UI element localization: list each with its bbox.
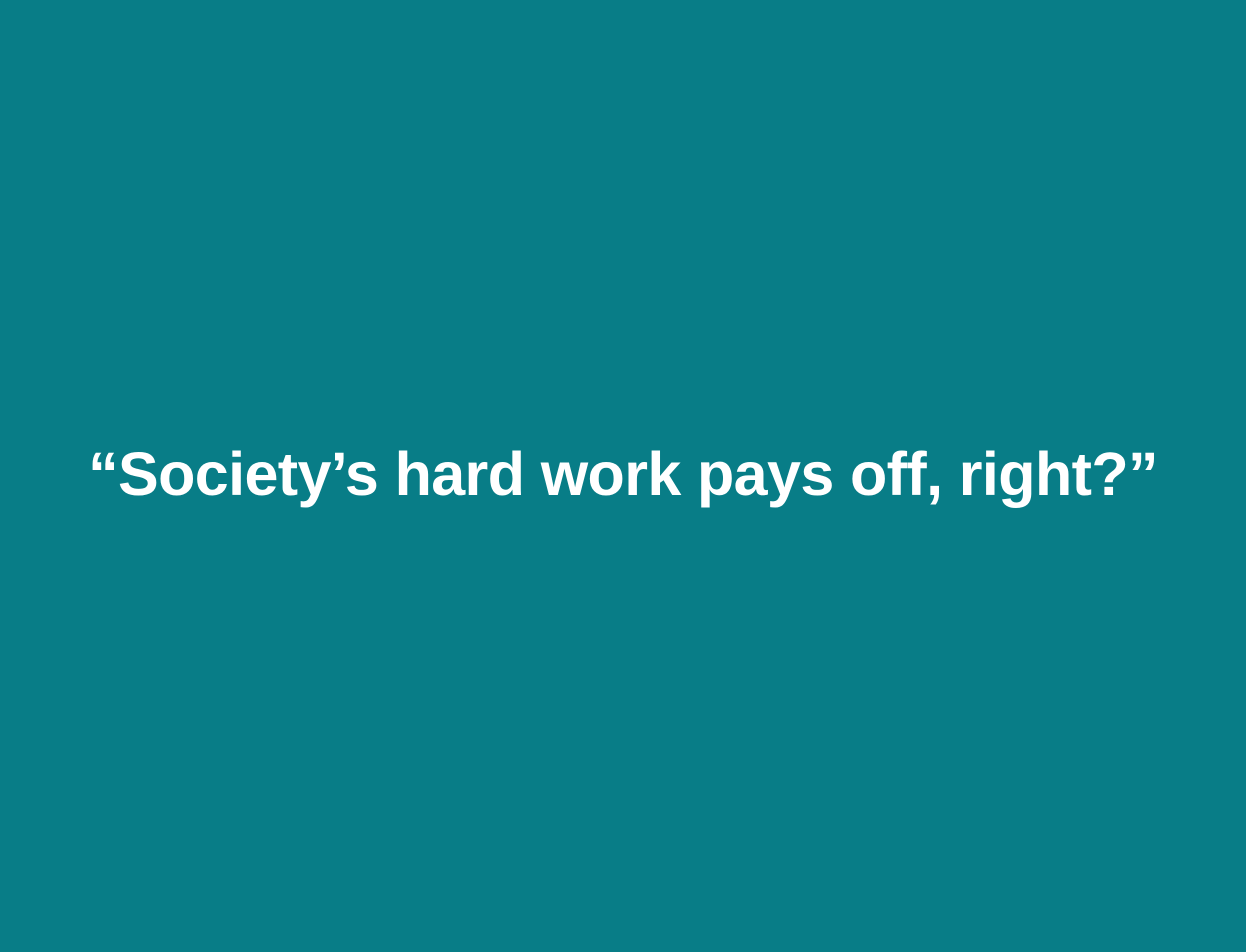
quote-text: “Society’s hard work pays off, right?” xyxy=(88,442,1158,508)
quote-block: “Society’s hard work pays off, right?” xyxy=(0,428,1246,522)
quote-slide: “Society’s hard work pays off, right?” xyxy=(0,0,1246,952)
